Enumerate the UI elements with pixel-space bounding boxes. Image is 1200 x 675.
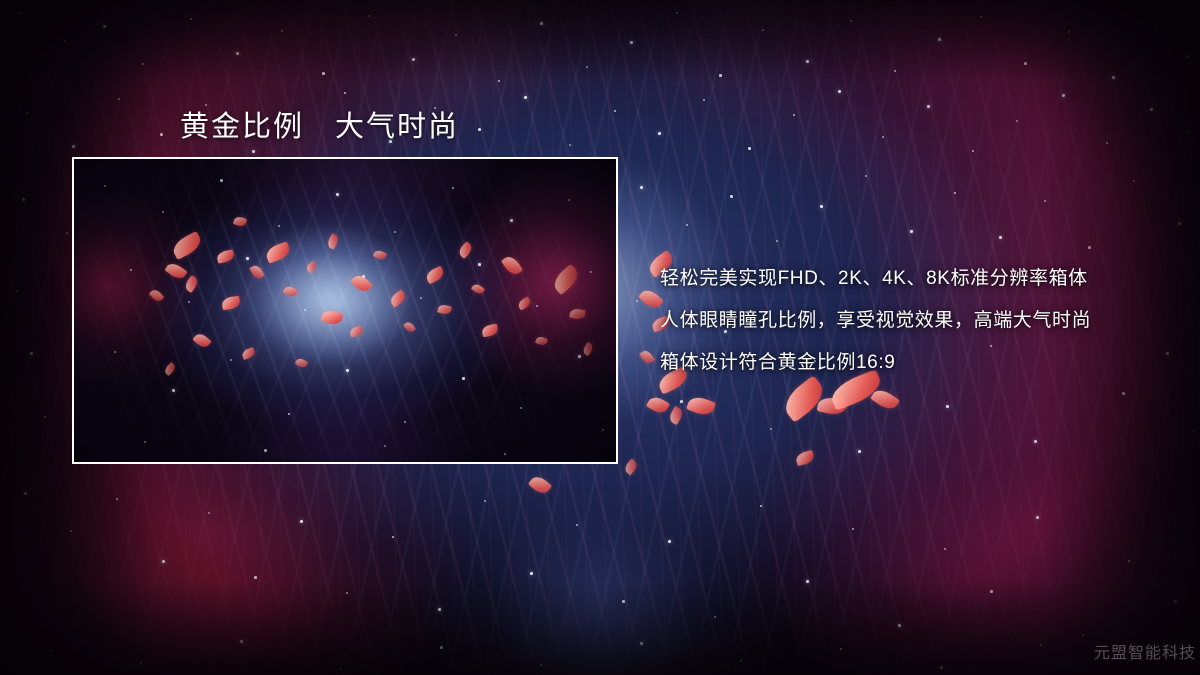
- star-dot: [569, 144, 571, 146]
- star-dot: [944, 548, 946, 550]
- star-dot: [236, 52, 239, 55]
- star-dot: [762, 29, 764, 31]
- star-dot: [26, 112, 28, 114]
- star-dot: [1016, 120, 1018, 122]
- star-dot: [540, 22, 543, 25]
- star-dot: [1178, 222, 1181, 225]
- star-dot: [614, 110, 616, 112]
- star-dot: [1188, 130, 1190, 132]
- star-dot: [668, 540, 671, 543]
- star-dot: [16, 290, 18, 292]
- star-dot: [103, 25, 106, 28]
- star-dot: [858, 450, 861, 453]
- star-dot: [640, 642, 643, 645]
- petal-shape: [686, 394, 716, 418]
- star-dot: [927, 105, 930, 108]
- star-dot: [748, 147, 751, 150]
- star-dot: [972, 150, 974, 152]
- star-dot: [676, 12, 678, 14]
- star-dot: [1062, 94, 1065, 97]
- body-text-block: 轻松完美实现FHD、2K、4K、8K标准分辨率箱体 人体眼睛瞳孔比例，享受视觉效…: [660, 258, 1160, 384]
- page-title: 黄金比例 大气时尚: [180, 103, 459, 145]
- star-dot: [940, 666, 943, 669]
- star-dot: [980, 16, 982, 18]
- star-dot: [680, 400, 683, 403]
- body-line-3: 箱体设计符合黄金比例16:9: [660, 342, 1160, 384]
- star-dot: [630, 41, 633, 44]
- star-dot: [478, 128, 481, 131]
- star-dot: [24, 492, 27, 495]
- star-dot: [116, 498, 118, 500]
- star-dot: [938, 38, 941, 41]
- star-dot: [240, 640, 243, 643]
- star-dot: [18, 12, 21, 15]
- watermark: 元盟智能科技: [1094, 639, 1196, 663]
- petal-shape: [646, 394, 670, 416]
- star-dot: [281, 30, 283, 32]
- star-dot: [714, 616, 716, 618]
- star-dot: [730, 195, 733, 198]
- star-dot: [540, 664, 542, 666]
- star-dot: [498, 80, 500, 82]
- star-dot: [70, 530, 72, 532]
- star-dot: [840, 648, 842, 650]
- star-dot: [1122, 392, 1125, 395]
- star-dot: [776, 240, 778, 242]
- star-dot: [586, 66, 588, 68]
- star-dot: [30, 352, 33, 355]
- star-dot: [1112, 76, 1115, 79]
- star-dot: [346, 592, 348, 594]
- star-dot: [1106, 142, 1108, 144]
- petal-shape: [795, 450, 815, 466]
- star-dot: [142, 63, 144, 65]
- star-dot: [894, 70, 896, 72]
- star-dot: [820, 205, 823, 208]
- star-dot: [1088, 246, 1091, 249]
- star-dot: [852, 528, 854, 530]
- star-dot: [455, 34, 457, 36]
- star-dot: [882, 136, 884, 138]
- star-dot: [1044, 200, 1046, 202]
- star-dot: [740, 660, 742, 662]
- star-dot: [22, 198, 25, 201]
- star-dot: [576, 524, 578, 526]
- petal-shape: [870, 386, 900, 413]
- star-dot: [1024, 62, 1027, 65]
- star-dot: [160, 133, 163, 136]
- star-dot: [440, 646, 443, 649]
- star-dot: [910, 230, 913, 233]
- star-dot: [1150, 108, 1153, 111]
- star-dot: [806, 580, 809, 583]
- star-dot: [140, 662, 142, 664]
- star-dot: [806, 60, 809, 63]
- petal-shape: [817, 395, 848, 416]
- star-dot: [658, 132, 661, 135]
- star-dot: [72, 145, 75, 148]
- star-dot: [50, 650, 52, 652]
- star-dot: [760, 505, 762, 507]
- star-dot: [1040, 644, 1042, 646]
- star-dot: [838, 90, 841, 93]
- star-dot: [412, 58, 415, 61]
- star-dot: [703, 99, 705, 101]
- star-dot: [770, 428, 772, 430]
- star-dot: [946, 405, 949, 408]
- star-dot: [162, 560, 165, 563]
- star-dot: [438, 608, 441, 611]
- star-dot: [392, 536, 394, 538]
- inner-vignette: [74, 159, 616, 462]
- star-dot: [990, 590, 993, 593]
- star-dot: [1192, 430, 1194, 432]
- star-dot: [524, 96, 527, 99]
- star-dot: [1166, 352, 1169, 355]
- star-dot: [368, 15, 370, 17]
- star-dot: [1068, 31, 1070, 33]
- star-dot: [340, 668, 342, 670]
- star-dot: [44, 416, 46, 418]
- star-dot: [1082, 634, 1084, 636]
- star-dot: [252, 150, 255, 153]
- star-dot: [686, 224, 688, 226]
- star-dot: [640, 186, 643, 189]
- star-dot: [1036, 516, 1039, 519]
- star-dot: [1128, 560, 1130, 562]
- star-dot: [999, 236, 1002, 239]
- body-line-2: 人体眼睛瞳孔比例，享受视觉效果，高端大气时尚: [660, 300, 1160, 342]
- star-dot: [190, 18, 192, 20]
- body-line-1: 轻松完美实现FHD、2K、4K、8K标准分辨率箱体: [660, 258, 1160, 300]
- star-dot: [865, 175, 867, 177]
- petal-shape: [639, 348, 655, 365]
- star-dot: [254, 576, 257, 579]
- star-dot: [898, 624, 901, 627]
- star-dot: [1156, 24, 1158, 26]
- star-dot: [1133, 180, 1135, 182]
- petal-shape: [623, 458, 640, 475]
- star-dot: [64, 40, 66, 42]
- star-dot: [322, 72, 325, 75]
- star-dot: [719, 74, 722, 77]
- presentation-slide: 黄金比例 大气时尚 轻松完美实现FHD、2K、4K、8K标准分辨率箱体 人体眼睛…: [0, 0, 1200, 675]
- star-dot: [484, 500, 486, 502]
- star-dot: [208, 512, 210, 514]
- star-dot: [954, 192, 956, 194]
- star-dot: [636, 300, 638, 302]
- star-dot: [1034, 440, 1037, 443]
- star-dot: [622, 600, 625, 603]
- petal-shape: [667, 406, 685, 425]
- star-dot: [344, 92, 346, 94]
- star-dot: [1186, 55, 1189, 58]
- framed-image-panel[interactable]: [72, 157, 618, 464]
- petal-shape: [528, 473, 552, 497]
- star-dot: [118, 98, 120, 100]
- star-dot: [1174, 600, 1177, 603]
- star-dot: [66, 232, 68, 234]
- star-dot: [530, 572, 533, 575]
- star-dot: [850, 20, 852, 22]
- star-dot: [793, 114, 795, 116]
- star-dot: [300, 520, 303, 523]
